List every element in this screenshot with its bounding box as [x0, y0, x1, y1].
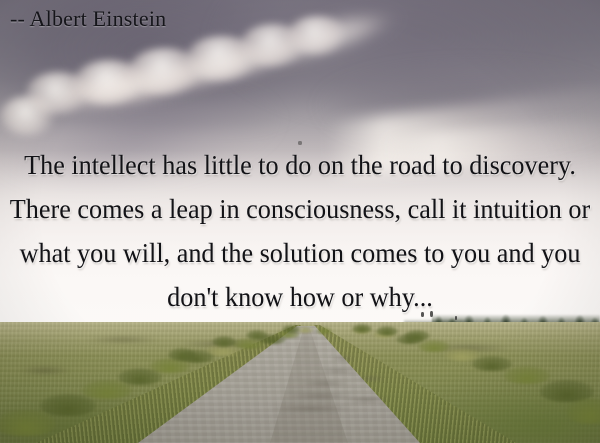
grass-tuft	[82, 380, 132, 399]
verge-bush	[168, 348, 196, 361]
grass-tuft	[0, 410, 56, 436]
quote-image: -- Albert Einstein The intellect has lit…	[0, 0, 600, 443]
quote-attribution: -- Albert Einstein	[10, 8, 166, 30]
quote-line: There comes a leap in consciousness, cal…	[9, 187, 591, 231]
road-gravel-patch	[356, 376, 386, 381]
road-gravel-patch	[268, 404, 354, 413]
verge-bush	[212, 336, 236, 347]
quote-text-block: The intellect has little to do on the ro…	[0, 143, 600, 319]
field-soil-patch	[88, 336, 158, 343]
verge-bush	[352, 324, 372, 333]
road-gravel-patch	[344, 396, 390, 403]
grass-tuft	[472, 356, 512, 371]
road-gravel-patch	[300, 380, 352, 387]
verge-bush	[404, 330, 430, 341]
quote-line: what you will, and the solution comes to…	[9, 231, 591, 275]
quote-line: don't know how or why...	[9, 275, 591, 319]
road-gravel-patch	[330, 356, 356, 361]
verge-bush	[376, 326, 398, 336]
grass-tuft	[40, 394, 96, 416]
grass-tuft	[566, 398, 600, 424]
grass-tuft	[418, 340, 450, 352]
verge-bush	[282, 325, 300, 333]
grass-tuft	[504, 366, 550, 384]
verge-bush	[246, 330, 268, 340]
quote-line: The intellect has little to do on the ro…	[9, 143, 591, 187]
road-gravel-patch	[318, 368, 358, 374]
grass-tuft	[316, 327, 332, 334]
field-soil-patch	[20, 366, 70, 375]
